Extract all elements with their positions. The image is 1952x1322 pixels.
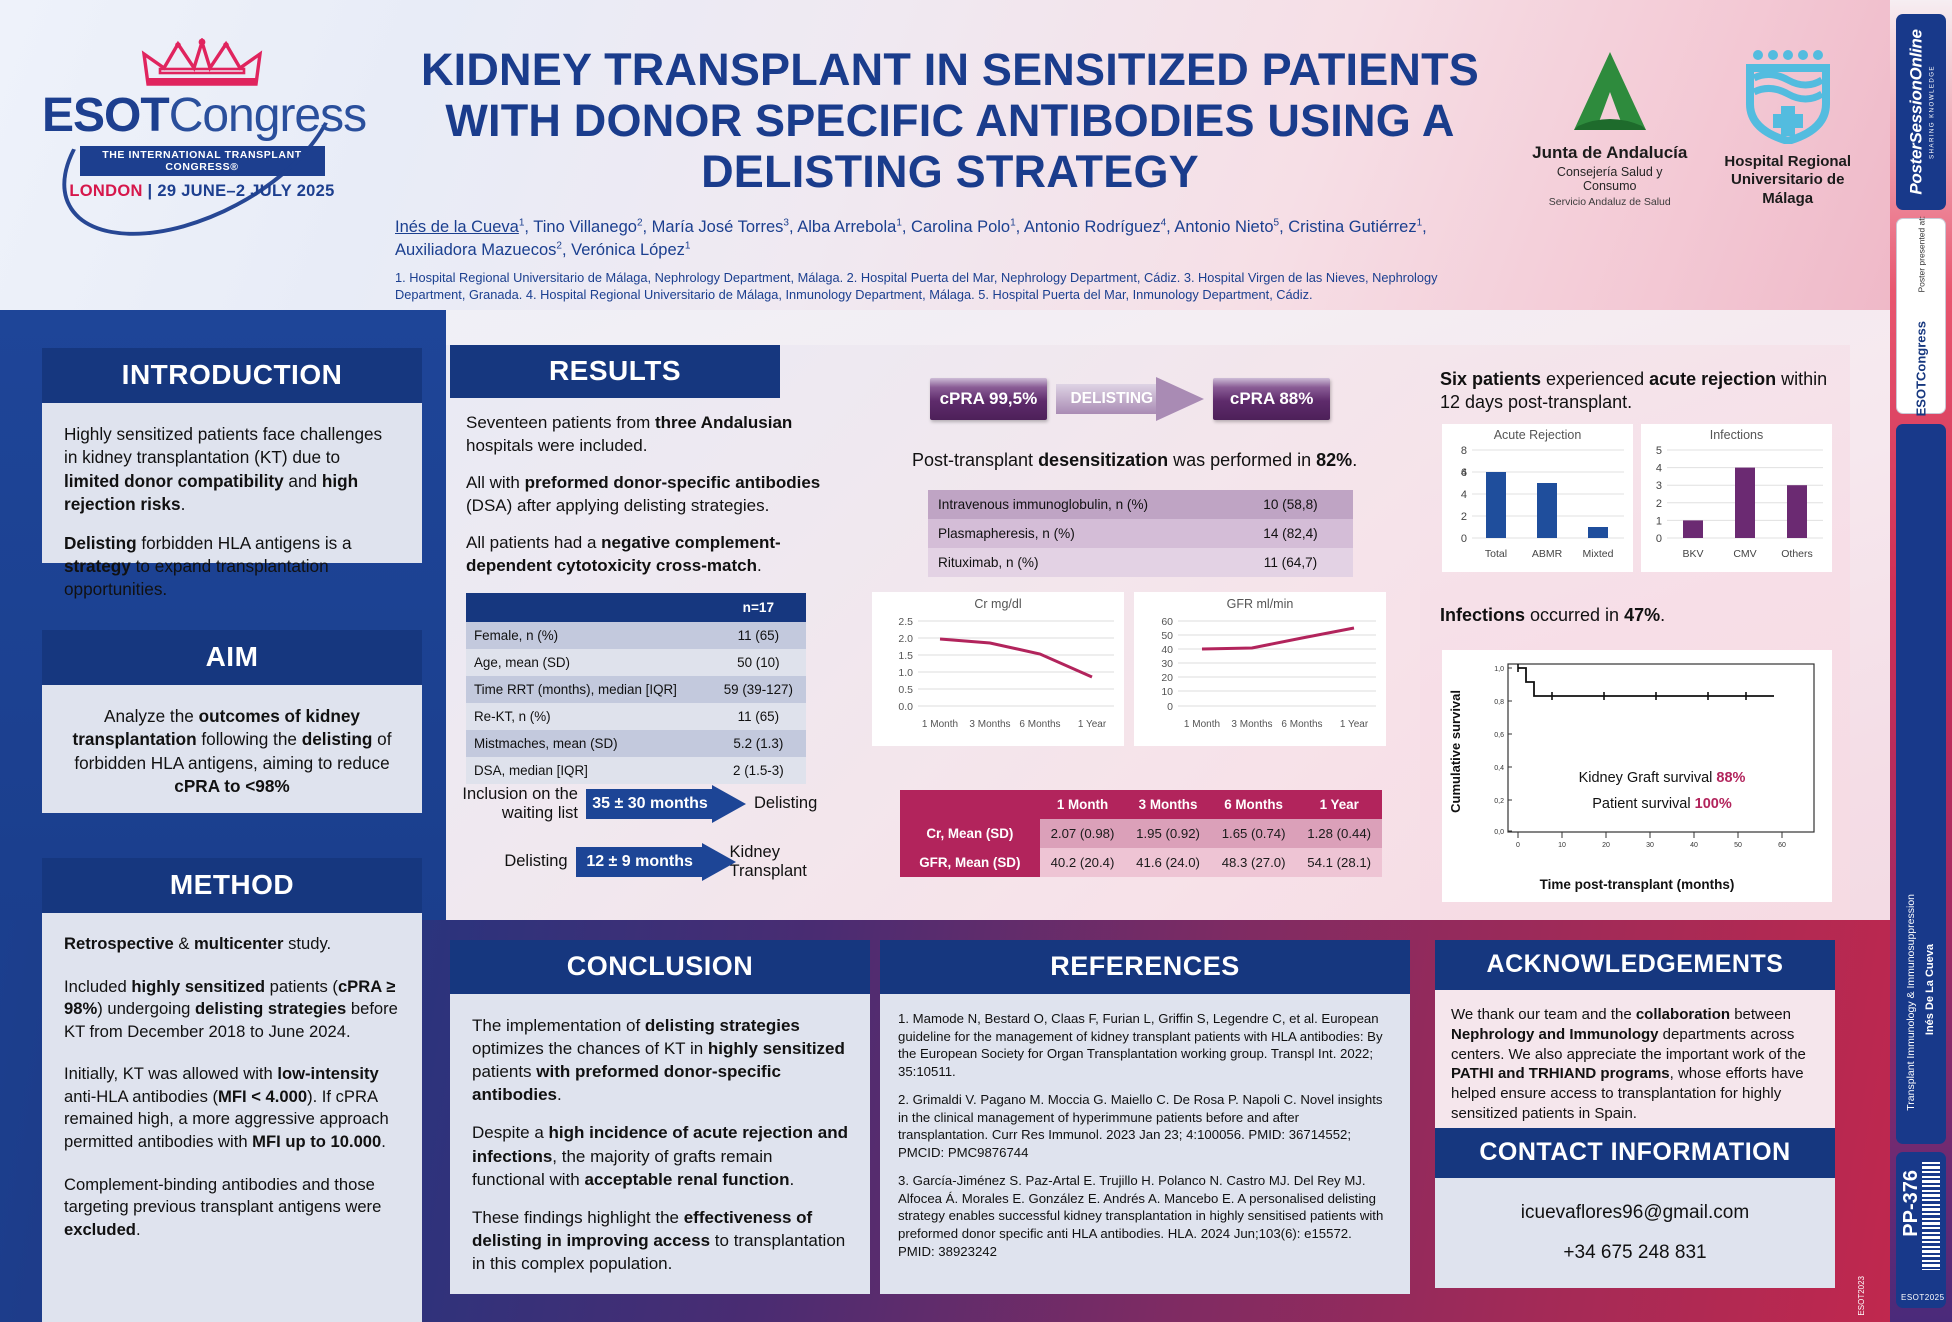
survival-xlabel: Time post-transplant (months): [1448, 877, 1826, 892]
timeline-arrows: Inclusion on the waiting list 35 ± 30 mo…: [460, 782, 850, 898]
crgfr-corner: [900, 790, 1040, 819]
svg-text:50: 50: [1161, 630, 1173, 642]
cpra-before-badge: cPRA 99,5%: [930, 378, 1047, 420]
cr-gfr-table: 1 Month3 Months6 Months1 Year Cr, Mean (…: [900, 790, 1382, 877]
svg-text:0,0: 0,0: [1494, 829, 1504, 836]
demographics-value: 11 (65): [711, 622, 806, 649]
timeline-to-1: Kidney Transplant: [730, 843, 850, 881]
desensitization-value: 11 (64,7): [1228, 548, 1353, 577]
section-results: RESULTS: [450, 345, 780, 398]
poster-code-card: PP-376 ESOT2025: [1896, 1152, 1946, 1308]
svg-text:4: 4: [1656, 463, 1662, 475]
svg-text:1 Month: 1 Month: [922, 719, 958, 730]
demographics-value: 59 (39-127): [711, 676, 806, 703]
section-references: REFERENCES 1. Mamode N, Bestard O, Claas…: [880, 940, 1410, 1294]
title-block: KIDNEY TRANSPLANT IN SENSITIZED PATIENTS…: [395, 45, 1505, 303]
chart-acute-rejection: Acute Rejection 84 6420 TotalABMRMixted: [1442, 424, 1633, 572]
table-row: Re-KT, n (%)11 (65): [466, 703, 806, 730]
demographics-value: 2 (1.5-3): [711, 757, 806, 784]
esot-congress-logo: ESOTCongress THE INTERNATIONAL TRANSPLAN…: [42, 38, 362, 223]
demographics-label: Mistmaches, mean (SD): [466, 730, 711, 757]
results-text: Seventeen patients from three Andalusian…: [466, 412, 846, 593]
crown-icon: [132, 38, 272, 90]
cpra-banner: cPRA 99,5% DELISTING cPRA 88%: [930, 375, 1330, 423]
svg-text:60: 60: [1778, 842, 1786, 849]
svg-text:30: 30: [1161, 658, 1173, 670]
table-header-row: 1 Month3 Months6 Months1 Year: [900, 790, 1382, 819]
demographics-value: 50 (10): [711, 649, 806, 676]
svg-text:5: 5: [1656, 445, 1662, 457]
svg-text:Total: Total: [1485, 548, 1507, 560]
conclusion-heading: CONCLUSION: [450, 940, 870, 994]
patient-survival-text: Patient survival 100%: [1512, 796, 1812, 812]
demographics-value: 5.2 (1.3): [711, 730, 806, 757]
svg-text:3: 3: [1656, 480, 1662, 492]
section-introduction: INTRODUCTION Highly sensitized patients …: [42, 348, 422, 563]
chart-acute-rejection-svg: 84 6420 TotalABMRMixted: [1442, 442, 1632, 568]
graft-survival-text: Kidney Graft survival 88%: [1512, 770, 1812, 786]
method-body: Retrospective & multicenter study. Inclu…: [42, 913, 422, 1322]
aim-paragraph-1: Analyze the outcomes of kidney transplan…: [64, 705, 400, 799]
results-paragraph-3: All patients had a negative complement-d…: [466, 532, 846, 577]
section-acknowledgements: ACKNOWLEDGEMENTS We thank our team and t…: [1435, 940, 1835, 1130]
svg-text:1.5: 1.5: [898, 650, 913, 662]
crgfr-cell: 48.3 (27.0): [1211, 848, 1297, 877]
pso-brand: PosterSessionOnline: [1907, 29, 1927, 194]
references-body: 1. Mamode N, Bestard O, Claas F, Furian …: [880, 994, 1410, 1294]
introduction-body: Highly sensitized patients face challeng…: [42, 403, 422, 563]
desensitization-value: 14 (82,4): [1228, 519, 1353, 548]
presenter-name: Inés De La Cueva: [1924, 944, 1936, 1035]
demographics-n-header: n=17: [711, 593, 806, 622]
poster-canvas: ESOTCongress THE INTERNATIONAL TRANSPLAN…: [0, 0, 1952, 1322]
junta-sub2: Servicio Andaluz de Salud: [1530, 196, 1689, 208]
svg-text:20: 20: [1602, 842, 1610, 849]
svg-text:4: 4: [1461, 489, 1467, 501]
svg-text:0: 0: [1656, 533, 1662, 545]
pso-tagline: SHARING KNOWLEDGE: [1929, 29, 1936, 194]
chart-survival-svg: 1,00,80,6 0,40,20,0 01: [1474, 658, 1826, 870]
method-heading: METHOD: [42, 858, 422, 913]
delisting-arrow-icon: DELISTING: [1056, 377, 1204, 421]
contact-body: icuevaflores96@gmail.com +34 675 248 831: [1435, 1178, 1835, 1288]
section-aim: AIM Analyze the outcomes of kidney trans…: [42, 630, 422, 813]
section-conclusion: CONCLUSION The implementation of delisti…: [450, 940, 870, 1294]
chart-gfr-svg: 605040 3020100 1 Month3 Months 6 Months1…: [1134, 611, 1386, 739]
desensitization-label: Plasmapheresis, n (%): [928, 519, 1228, 548]
timeline-from-1: Delisting: [460, 852, 568, 871]
footer-code: ESOT2023: [1857, 1276, 1866, 1316]
junta-sub1: Consejería Salud y Consumo: [1530, 165, 1689, 193]
bar-charts-row: Acute Rejection 84 6420 TotalABMRMixted: [1442, 424, 1832, 572]
svg-text:0.5: 0.5: [898, 684, 913, 696]
svg-text:8: 8: [1461, 445, 1467, 457]
reference-item-3: 3. García-Jiménez S. Paz-Artal E. Trujil…: [898, 1172, 1392, 1260]
svg-text:1 Year: 1 Year: [1078, 719, 1107, 730]
desensitization-table: Intravenous immunoglobulin, n (%)10 (58,…: [928, 490, 1353, 577]
svg-text:6 Months: 6 Months: [1019, 719, 1060, 730]
timeline-to-0: Delisting: [754, 794, 817, 813]
crgfr-cell: 2.07 (0.98): [1040, 819, 1126, 848]
presented-at-label: Poster presented at:: [1916, 216, 1926, 293]
year-label: ESOT2025: [1901, 1293, 1945, 1302]
chart-infections-svg: 543 210 BKVCMVOthers: [1641, 442, 1831, 568]
introduction-paragraph-1: Highly sensitized patients face challeng…: [64, 423, 400, 517]
chart-gfr-title: GFR ml/min: [1134, 592, 1386, 611]
esot-sidebar-logo: ESOTCongress: [1914, 321, 1929, 416]
svg-text:10: 10: [1558, 842, 1566, 849]
demographics-label: DSA, median [IQR]: [466, 757, 711, 784]
method-paragraph-1: Retrospective & multicenter study.: [64, 933, 400, 956]
table-row: Mistmaches, mean (SD)5.2 (1.3): [466, 730, 806, 757]
infections-headline: Infections occurred in 47%.: [1440, 605, 1830, 626]
institution-logos: Junta de Andalucía Consejería Salud y Co…: [1530, 48, 1860, 228]
author-list: Inés de la Cueva1, Tino Villanego2, Marí…: [395, 216, 1505, 262]
reference-item-2: 2. Grimaldi V. Pagano M. Moccia G. Maiel…: [898, 1091, 1392, 1161]
crgfr-column-header: 1 Year: [1296, 790, 1382, 819]
svg-text:0: 0: [1516, 842, 1520, 849]
conclusion-paragraph-2: Despite a high incidence of acute reject…: [472, 1121, 848, 1190]
table-row: Intravenous immunoglobulin, n (%)10 (58,…: [928, 490, 1353, 519]
desensitization-label: Intravenous immunoglobulin, n (%): [928, 490, 1228, 519]
timeline-row: Inclusion on the waiting list 35 ± 30 mo…: [460, 782, 850, 826]
topic-label: Transplant Immunology & Immunosuppressio…: [1905, 894, 1917, 1111]
section-contact: CONTACT INFORMATION icuevaflores96@gmail…: [1435, 1128, 1835, 1288]
poster-header: ESOTCongress THE INTERNATIONAL TRANSPLAN…: [0, 0, 1890, 310]
delisting-arrow-label: DELISTING: [1056, 384, 1168, 414]
introduction-heading: INTRODUCTION: [42, 348, 422, 403]
crgfr-column-header: 1 Month: [1040, 790, 1126, 819]
table-header-row: n=17: [466, 593, 806, 622]
rejection-headline: Six patients experienced acute rejection…: [1440, 368, 1830, 415]
hospital-shield-icon: [1742, 48, 1834, 144]
acknowledgements-body: We thank our team and the collaboration …: [1435, 990, 1835, 1130]
affiliations: 1. Hospital Regional Universitario de Má…: [395, 269, 1505, 303]
svg-text:30: 30: [1646, 842, 1654, 849]
table-row: Time RRT (months), median [IQR]59 (39-12…: [466, 676, 806, 703]
results-paragraph-2: All with preformed donor-specific antibo…: [466, 472, 846, 517]
acknowledgements-paragraph: We thank our team and the collaboration …: [1451, 1005, 1819, 1124]
aim-body: Analyze the outcomes of kidney transplan…: [42, 685, 422, 813]
page-title: KIDNEY TRANSPLANT IN SENSITIZED PATIENTS…: [395, 45, 1505, 198]
results-heading: RESULTS: [450, 345, 780, 398]
timeline-duration-1: 12 ± 9 months: [576, 847, 704, 877]
references-heading: REFERENCES: [880, 940, 1410, 994]
crgfr-row-label: Cr, Mean (SD): [900, 819, 1040, 848]
esot-word-bold: ESOT: [42, 89, 169, 142]
svg-text:0,8: 0,8: [1494, 699, 1504, 706]
aim-heading: AIM: [42, 630, 422, 685]
chart-gfr: GFR ml/min 605040 3020100 1 Month3 Month…: [1134, 592, 1386, 746]
section-method: METHOD Retrospective & multicenter study…: [42, 858, 422, 1322]
survival-ylabel: Cumulative survival: [1448, 690, 1463, 813]
conclusion-body: The implementation of delisting strategi…: [450, 994, 870, 1294]
svg-text:1 Month: 1 Month: [1184, 719, 1220, 730]
svg-text:6: 6: [1461, 467, 1467, 479]
table-row: DSA, median [IQR]2 (1.5-3): [466, 757, 806, 784]
table-row: Rituximab, n (%)11 (64,7): [928, 548, 1353, 577]
table-row: Age, mean (SD)50 (10): [466, 649, 806, 676]
timeline-duration-0: 35 ± 30 months: [586, 789, 714, 819]
chart-creatinine: Cr mg/dl 2.52.01.5 1.00.50.0 1 Month3 Mo…: [872, 592, 1124, 746]
hospital-malaga-logo: Hospital Regional Universitario de Málag…: [1715, 48, 1860, 208]
svg-text:CMV: CMV: [1733, 548, 1756, 560]
crgfr-cell: 1.65 (0.74): [1211, 819, 1297, 848]
demographics-label: Female, n (%): [466, 622, 711, 649]
svg-text:Mixted: Mixted: [1583, 548, 1614, 560]
junta-de-andalucia-logo: Junta de Andalucía Consejería Salud y Co…: [1530, 48, 1689, 208]
svg-text:1 Year: 1 Year: [1340, 719, 1369, 730]
svg-text:0.0: 0.0: [898, 701, 913, 713]
demographics-label: Re-KT, n (%): [466, 703, 711, 730]
timeline-arrow-icon: 35 ± 30 months: [586, 785, 746, 823]
right-sidebar: PosterSessionOnline SHARING KNOWLEDGE Po…: [1890, 0, 1952, 1322]
crgfr-row-label: GFR, Mean (SD): [900, 848, 1040, 877]
timeline-row: Delisting 12 ± 9 months Kidney Transplan…: [460, 840, 850, 884]
svg-text:2.0: 2.0: [898, 633, 913, 645]
crgfr-cell: 54.1 (28.1): [1296, 848, 1382, 877]
demographics-blank-header: [466, 593, 711, 622]
svg-text:60: 60: [1161, 616, 1173, 628]
table-row: GFR, Mean (SD)40.2 (20.4)41.6 (24.0)48.3…: [900, 848, 1382, 877]
chart-acute-rejection-title: Acute Rejection: [1442, 424, 1633, 442]
svg-text:0: 0: [1167, 701, 1173, 713]
svg-text:2: 2: [1656, 498, 1662, 510]
chart-infections-title: Infections: [1641, 424, 1832, 442]
topic-card: Transplant Immunology & Immunosuppressio…: [1896, 424, 1946, 1144]
conclusion-paragraph-1: The implementation of delisting strategi…: [472, 1014, 848, 1106]
cpra-after-badge: cPRA 88%: [1213, 378, 1330, 420]
timeline-arrow-icon: 12 ± 9 months: [576, 843, 722, 881]
crgfr-cell: 40.2 (20.4): [1040, 848, 1126, 877]
svg-text:3 Months: 3 Months: [969, 719, 1010, 730]
method-paragraph-3: Initially, KT was allowed with low-inten…: [64, 1063, 400, 1153]
svg-text:6 Months: 6 Months: [1281, 719, 1322, 730]
desensitization-label: Rituximab, n (%): [928, 548, 1228, 577]
desensitization-headline: Post-transplant desensitization was perf…: [912, 450, 1382, 471]
chart-survival: Cumulative survival 1,00,80,6 0,40,20,0: [1442, 650, 1832, 902]
demographics-value: 11 (65): [711, 703, 806, 730]
contact-heading: CONTACT INFORMATION: [1435, 1128, 1835, 1178]
poster-code: PP-376: [1900, 1170, 1923, 1237]
crgfr-cell: 1.95 (0.92): [1125, 819, 1211, 848]
barcode-icon: [1922, 1162, 1940, 1270]
chart-creatinine-svg: 2.52.01.5 1.00.50.0 1 Month3 Months 6 Mo…: [872, 611, 1124, 739]
svg-text:0,2: 0,2: [1494, 798, 1504, 805]
svg-text:50: 50: [1734, 842, 1742, 849]
svg-text:1,0: 1,0: [1494, 666, 1504, 673]
esot-wordmark: ESOTCongress: [42, 92, 362, 140]
demographics-label: Time RRT (months), median [IQR]: [466, 676, 711, 703]
conclusion-paragraph-3: These findings highlight the effectivene…: [472, 1206, 848, 1275]
acknowledgements-heading: ACKNOWLEDGEMENTS: [1435, 940, 1835, 990]
crgfr-column-header: 3 Months: [1125, 790, 1211, 819]
crgfr-cell: 1.28 (0.44): [1296, 819, 1382, 848]
svg-text:1.0: 1.0: [898, 667, 913, 679]
poster-presented-card: Poster presented at: ESOTCongress: [1896, 218, 1946, 414]
hospital-name: Hospital Regional Universitario de Málag…: [1715, 153, 1860, 208]
demographics-label: Age, mean (SD): [466, 649, 711, 676]
svg-text:ABMR: ABMR: [1532, 548, 1563, 560]
svg-text:Others: Others: [1781, 548, 1813, 560]
method-paragraph-4: Complement-binding antibodies and those …: [64, 1174, 400, 1242]
svg-text:40: 40: [1161, 644, 1173, 656]
svg-text:3 Months: 3 Months: [1231, 719, 1272, 730]
junta-name: Junta de Andalucía: [1530, 143, 1689, 163]
chart-infections: Infections 543 210 BKVCMVOthers: [1641, 424, 1832, 572]
table-row: Cr, Mean (SD)2.07 (0.98)1.95 (0.92)1.65 …: [900, 819, 1382, 848]
svg-text:2.5: 2.5: [898, 616, 913, 628]
esot-word-light: Congress: [169, 89, 366, 142]
table-row: Plasmapheresis, n (%)14 (82,4): [928, 519, 1353, 548]
timeline-from-0: Inclusion on the waiting list: [460, 785, 578, 823]
svg-text:0,4: 0,4: [1494, 765, 1504, 772]
svg-text:0,6: 0,6: [1494, 732, 1504, 739]
survival-annotations: Kidney Graft survival 88% Patient surviv…: [1512, 770, 1812, 822]
desensitization-value: 10 (58,8): [1228, 490, 1353, 519]
svg-text:0: 0: [1461, 533, 1467, 545]
poster-session-online-card[interactable]: PosterSessionOnline SHARING KNOWLEDGE: [1896, 14, 1946, 210]
method-paragraph-2: Included highly sensitized patients (cPR…: [64, 976, 400, 1044]
svg-text:BKV: BKV: [1682, 548, 1703, 560]
andalucia-a-icon: [1562, 48, 1658, 136]
crgfr-cell: 41.6 (24.0): [1125, 848, 1211, 877]
svg-text:10: 10: [1161, 686, 1173, 698]
crgfr-column-header: 6 Months: [1211, 790, 1297, 819]
reference-item-1: 1. Mamode N, Bestard O, Claas F, Furian …: [898, 1010, 1392, 1080]
svg-text:1: 1: [1656, 515, 1662, 527]
demographics-table: n=17 Female, n (%)11 (65)Age, mean (SD)5…: [466, 593, 806, 784]
contact-email[interactable]: icuevaflores96@gmail.com: [1457, 1200, 1813, 1226]
svg-text:20: 20: [1161, 672, 1173, 684]
svg-text:40: 40: [1690, 842, 1698, 849]
contact-phone: +34 675 248 831: [1457, 1240, 1813, 1266]
chart-creatinine-title: Cr mg/dl: [872, 592, 1124, 611]
introduction-paragraph-2: Delisting forbidden HLA antigens is a st…: [64, 532, 400, 602]
svg-text:2: 2: [1461, 511, 1467, 523]
results-paragraph-1: Seventeen patients from three Andalusian…: [466, 412, 846, 457]
table-row: Female, n (%)11 (65): [466, 622, 806, 649]
